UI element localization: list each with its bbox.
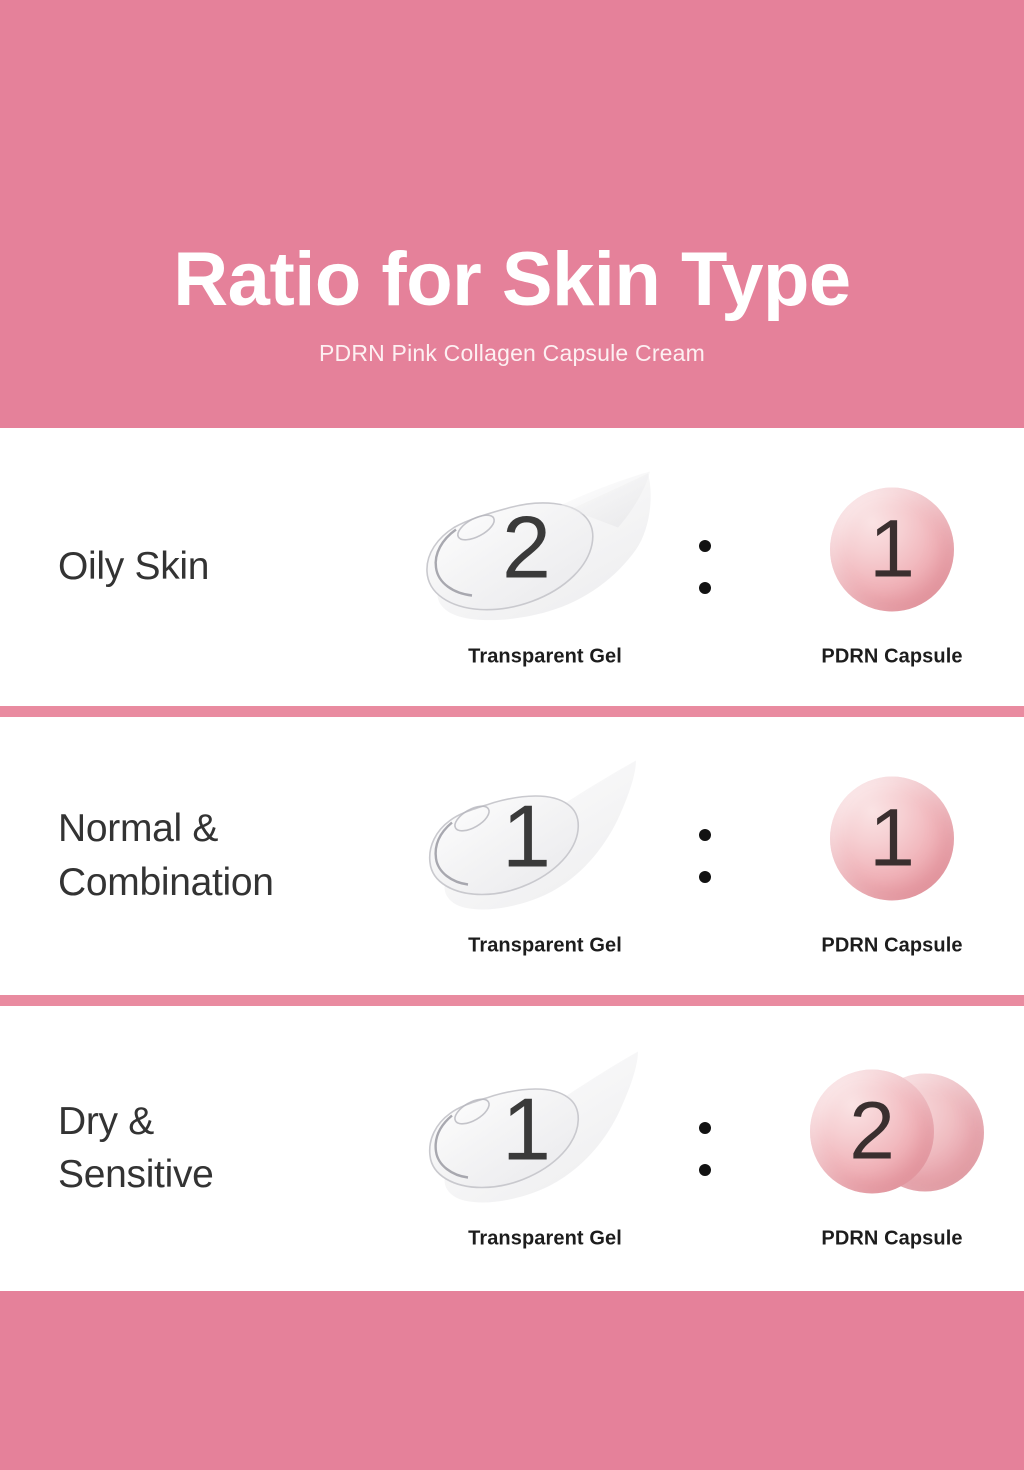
infographic-page: Ratio for Skin Type PDRN Pink Collagen C… [0,0,1024,1451]
capsule-art: 1 [760,466,1024,634]
gel-amount: 2 [502,504,551,592]
ratio-row-oily-skin: Oily Skin [0,428,1024,706]
row-divider [0,995,1024,1006]
pdrn-capsule-icon: 2 [792,1051,992,1211]
gel-label: Transparent Gel [468,935,622,958]
capsule-item: 1 PDRN Capsule [760,755,1024,958]
transparent-gel-icon: 1 [410,755,680,923]
gel-art: 1 [400,1047,690,1215]
transparent-gel-icon: 1 [410,1047,680,1215]
gel-amount: 1 [502,793,551,881]
capsule-label: PDRN Capsule [821,646,962,669]
skin-type-line-1: Normal & [58,802,398,856]
ratio-separator [698,1122,712,1176]
pdrn-capsule-icon: 1 [792,759,992,919]
gel-item: 1 Transparent Gel [400,755,690,958]
footer-band [0,1291,1024,1470]
capsule-amount: 1 [830,777,954,901]
colon-dot-bottom [699,1164,711,1176]
colon-dot-bottom [699,582,711,594]
gel-item: 2 Transparent Gel [400,466,690,669]
transparent-gel-icon: 2 [410,466,680,634]
gel-art: 1 [400,755,690,923]
colon-dot-bottom [699,871,711,883]
header-banner: Ratio for Skin Type PDRN Pink Collagen C… [0,0,1024,428]
gel-item: 1 Transparent Gel [400,1047,690,1250]
ratio-rows: Oily Skin [0,428,1024,1291]
gel-label: Transparent Gel [468,646,622,669]
capsule-amount: 1 [830,488,954,612]
capsule-art: 2 [760,1047,1024,1215]
skin-type-line-2: Sensitive [58,1149,398,1203]
skin-type-label: Normal & Combination [58,802,398,910]
gel-label: Transparent Gel [468,1227,622,1250]
row-divider [0,706,1024,717]
skin-type-label: Oily Skin [58,540,398,594]
capsule-item: 2 PDRN Capsule [760,1047,1024,1250]
capsule-amount: 2 [810,1069,934,1193]
ratio-separator [698,540,712,594]
capsule-art: 1 [760,755,1024,923]
capsule-label: PDRN Capsule [821,1227,962,1250]
capsule-label: PDRN Capsule [821,935,962,958]
colon-dot-top [699,1122,711,1134]
gel-amount: 1 [502,1085,551,1173]
colon-dot-top [699,829,711,841]
page-title: Ratio for Skin Type [173,242,850,318]
page-subtitle: PDRN Pink Collagen Capsule Cream [319,340,705,367]
gel-art: 2 [400,466,690,634]
ratio-separator [698,829,712,883]
ratio-row-dry-sensitive: Dry & Sensitive [0,1006,1024,1291]
ratio-row-normal-combination: Normal & Combination [0,717,1024,995]
pdrn-capsule-icon: 1 [792,470,992,630]
skin-type-line-2: Combination [58,856,398,910]
skin-type-label: Dry & Sensitive [58,1095,398,1203]
capsule-item: 1 PDRN Capsule [760,466,1024,669]
skin-type-line-1: Dry & [58,1095,398,1149]
colon-dot-top [699,540,711,552]
